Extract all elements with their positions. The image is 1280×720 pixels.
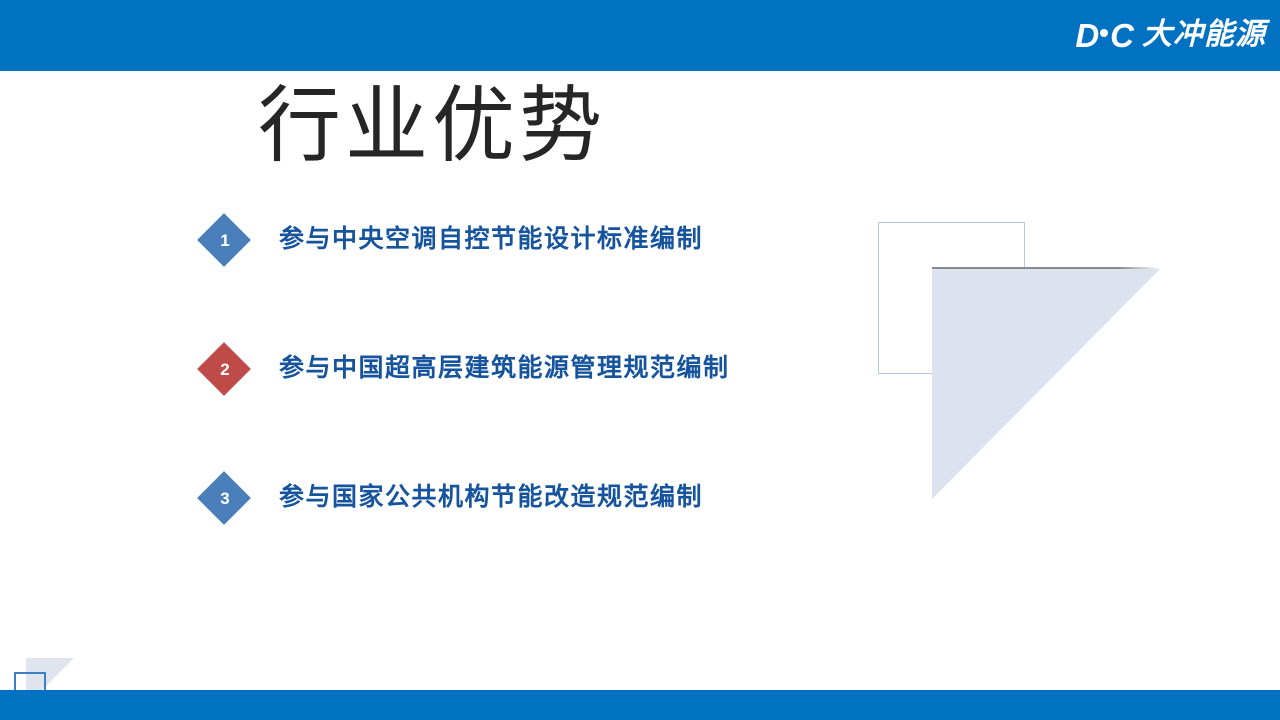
diamond-badge-2: 2: [198, 343, 252, 397]
list-item-label: 参与中央空调自控节能设计标准编制: [279, 224, 703, 255]
logo-mark-dc: D C: [1075, 19, 1133, 52]
company-logo: D C 大冲能源: [1075, 14, 1266, 56]
decorative-graphic-right: [878, 222, 1178, 512]
diamond-badge-3: 3: [198, 472, 252, 526]
diamond-number: 2: [198, 343, 252, 397]
logo-letter-c: C: [1110, 19, 1133, 52]
list-item: 3 参与国家公共机构节能改造规范编制: [198, 472, 858, 601]
diamond-number: 3: [198, 472, 252, 526]
list-item-label: 参与国家公共机构节能改造规范编制: [279, 482, 703, 513]
decorative-triangle-icon: [932, 269, 1160, 499]
bullet-list: 1 参与中央空调自控节能设计标准编制 2 参与中国超高层建筑能源管理规范编制 3…: [198, 214, 858, 601]
decorative-triangle-edge: [932, 267, 1160, 269]
header-underline: [0, 71, 1280, 74]
diamond-number: 1: [198, 214, 252, 268]
logo-company-name: 大冲能源: [1142, 20, 1266, 50]
list-item: 2 参与中国超高层建筑能源管理规范编制: [198, 343, 858, 472]
logo-dot-icon: [1100, 29, 1108, 37]
diamond-badge-1: 1: [198, 214, 252, 268]
presentation-slide: D C 大冲能源 行业优势 1 参与中央空调自控节能设计标准编制 2 参与中国超…: [0, 0, 1280, 720]
list-item-label: 参与中国超高层建筑能源管理规范编制: [279, 353, 730, 384]
logo-letter-d: D: [1075, 19, 1098, 52]
decorative-triangle-wrap: [932, 267, 1160, 499]
footer-bar: [0, 690, 1280, 720]
list-item: 1 参与中央空调自控节能设计标准编制: [198, 214, 858, 343]
page-title: 行业优势: [258, 82, 606, 169]
